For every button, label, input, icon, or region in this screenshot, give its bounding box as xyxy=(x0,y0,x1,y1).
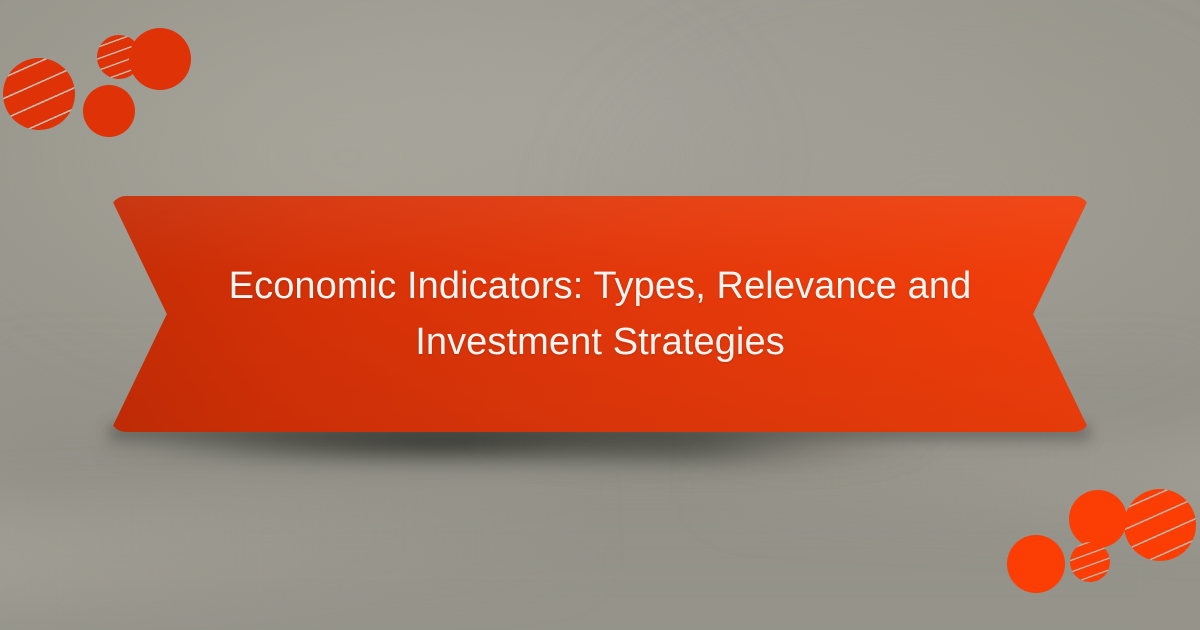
decoration-circle-striped-small-bottom-right xyxy=(1070,542,1110,582)
page-title-line-2: Investment Strategies xyxy=(415,321,785,363)
decoration-circle-striped-bottom-right xyxy=(1124,489,1196,561)
social-card-canvas: Economic Indicators: Types, Relevance an… xyxy=(0,0,1200,630)
decoration-circle-striped-top-left xyxy=(3,58,75,130)
decoration-circle-solid-medium-bottom-right xyxy=(1007,535,1065,593)
title-ribbon: Economic Indicators: Types, Relevance an… xyxy=(110,196,1090,432)
page-title-line-1: Economic Indicators: Types, Relevance an… xyxy=(229,265,972,307)
decoration-circle-solid-medium-top-left xyxy=(83,85,135,137)
decoration-circle-solid-bottom-right xyxy=(1069,490,1127,548)
page-title: Economic Indicators: Types, Relevance an… xyxy=(228,258,973,370)
decoration-circle-solid-top-left xyxy=(129,28,191,90)
